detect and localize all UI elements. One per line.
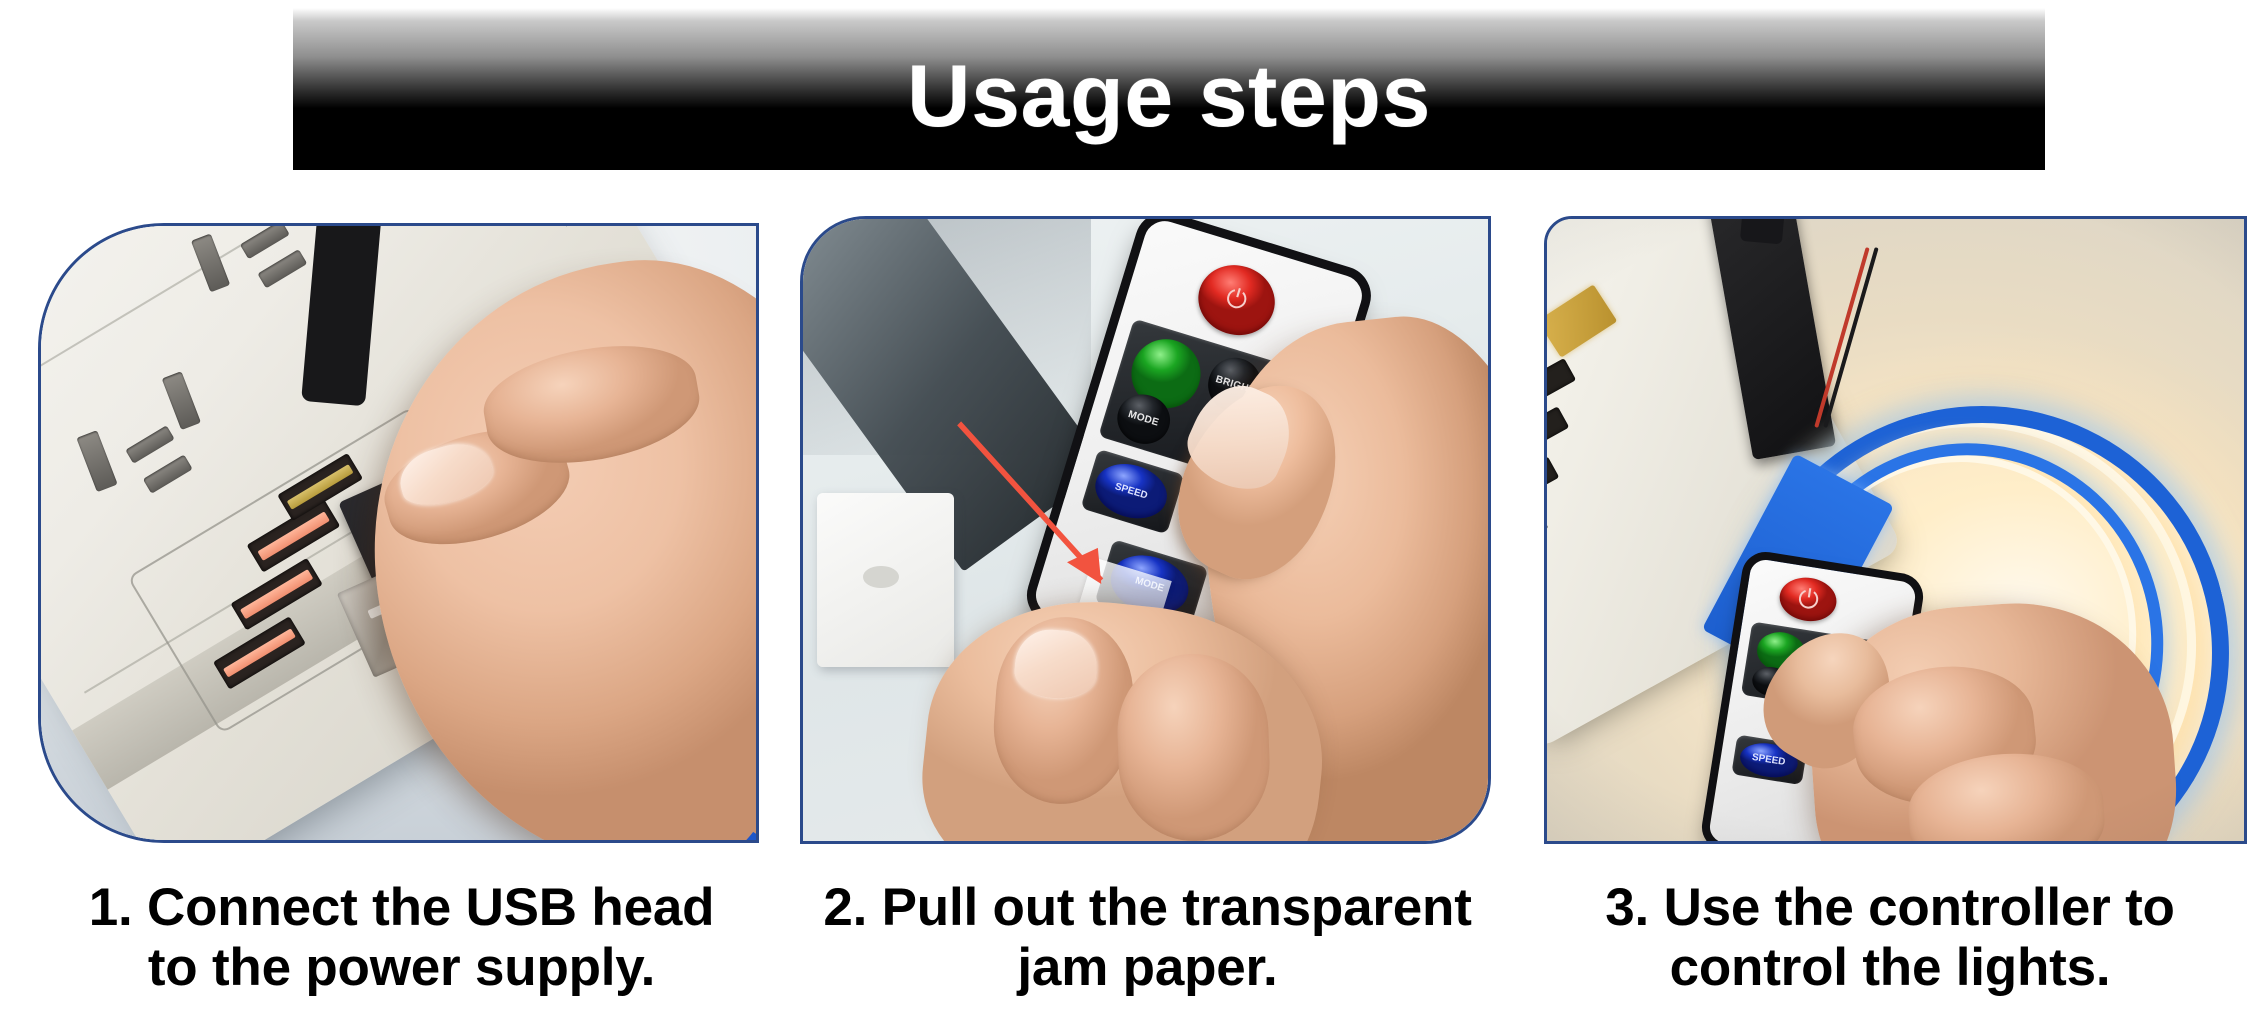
header-banner: Usage steps	[293, 8, 2045, 170]
step-2-caption-line-2: jam paper.	[770, 938, 1525, 998]
ac-socket-slot	[125, 426, 175, 465]
step-1-photo	[38, 223, 759, 843]
ac-socket-slot	[142, 455, 192, 494]
step-1-caption-line-2: to the power supply.	[24, 938, 779, 998]
control-the-lights-illustration: BRIGHT BRIGHT SPEED	[1547, 219, 2244, 841]
step-3-caption-line-2: control the lights.	[1520, 938, 2260, 998]
wall-socket-plate	[817, 493, 954, 667]
usb-port[interactable]	[1544, 406, 1569, 456]
ac-socket-slot	[161, 371, 200, 430]
usb-port[interactable]	[1544, 457, 1559, 507]
step-2-photo: BRIGHT BRIGHT MODE SPEED MODE	[800, 216, 1491, 844]
red-arrow-icon	[954, 418, 1125, 598]
ac-socket-slot	[240, 223, 290, 259]
power-button[interactable]	[1777, 574, 1840, 625]
pull-jam-paper-illustration: BRIGHT BRIGHT MODE SPEED MODE	[803, 219, 1488, 841]
page-title: Usage steps	[907, 52, 1431, 140]
usb-port[interactable]	[1544, 358, 1576, 406]
step-1-caption: 1. Connect the USB head to the power sup…	[24, 878, 779, 999]
pulling-finger	[1115, 652, 1272, 844]
step-1-caption-line-1: 1. Connect the USB head	[24, 878, 779, 938]
gold-usb-connector	[1544, 284, 1617, 357]
step-3-caption: 3. Use the controller to control the lig…	[1520, 878, 2260, 999]
ac-socket-slot	[76, 430, 118, 493]
usb-into-power-strip-illustration	[41, 226, 756, 840]
step-3-photo: BRIGHT BRIGHT SPEED	[1544, 216, 2247, 844]
step-3-caption-line-1: 3. Use the controller to	[1520, 878, 2260, 938]
power-button[interactable]	[1189, 256, 1283, 345]
step-2-caption: 2. Pull out the transparent jam paper.	[770, 878, 1525, 999]
ac-socket-slot	[191, 233, 230, 292]
usb-port[interactable]	[1544, 507, 1548, 557]
step-2-caption-line-1: 2. Pull out the transparent	[770, 878, 1525, 938]
